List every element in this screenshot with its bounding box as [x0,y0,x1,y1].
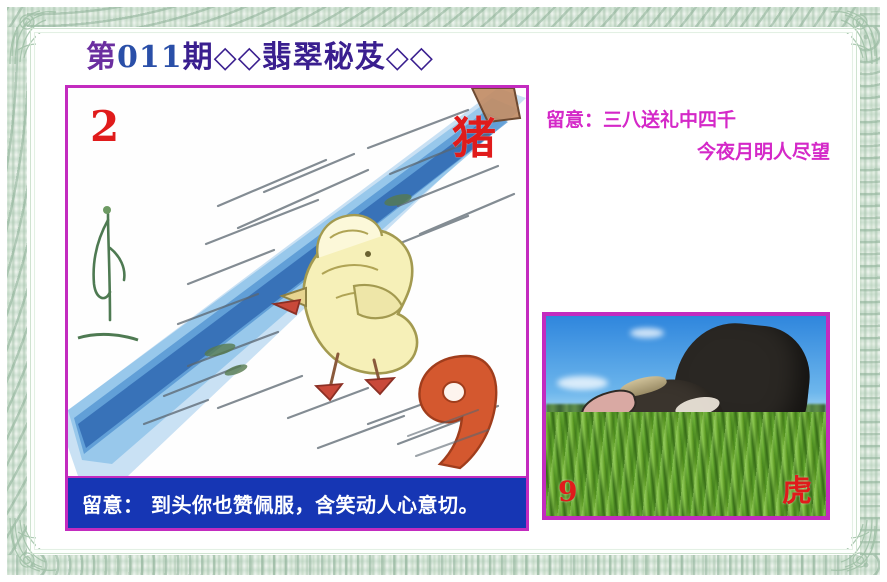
title-name: 翡翠秘芨 [262,40,386,75]
title-diamond-right: ◇◇ [386,40,434,75]
caption-bar: 留意： 到头你也赞佩服，含笑动人心意切。 [68,476,526,528]
title-suffix: 期 [183,40,214,75]
main-zodiac-label: 猪 [452,102,496,166]
title-diamond-left: ◇◇ [214,40,262,75]
title-issue: 011 [117,40,183,75]
poster-page: 第011期◇◇翡翠秘芨◇◇ [0,0,887,582]
note-line-1: 留意：三八送礼中四千 [544,104,836,136]
photo-number-label: 9 [558,475,577,508]
caption-text: 留意： 到头你也赞佩服，含笑动人心意切。 [82,489,479,518]
page-title: 第011期◇◇翡翠秘芨◇◇ [86,36,434,80]
main-number-label: 2 [90,102,119,151]
cloud-shape [630,328,664,338]
poster-content: 第011期◇◇翡翠秘芨◇◇ [36,34,851,548]
main-artwork: 2 猪 [68,88,526,476]
note-line-2: 今夜月明人尽望 [544,136,836,168]
cloud-shape [557,376,607,390]
note-block: 留意：三八送礼中四千 今夜月明人尽望 [544,104,836,168]
photo-panel[interactable]: 9 虎 [542,312,830,520]
photo-zodiac-label: 虎 [782,466,812,510]
main-illustration-panel[interactable]: 2 猪 留意： 到头你也赞佩服，含笑动人心意切。 [65,85,529,531]
title-prefix: 第 [86,40,117,75]
